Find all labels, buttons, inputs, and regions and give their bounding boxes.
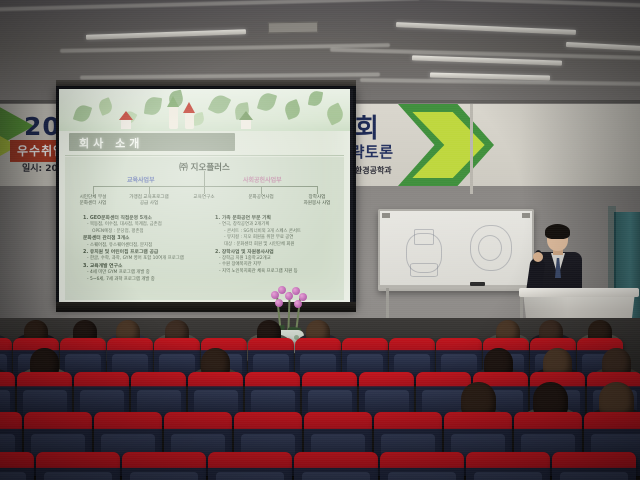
auditorium-seat[interactable] xyxy=(208,452,292,480)
house-illustration-icon xyxy=(239,111,253,129)
slide-text-column-left: 1. GEO문화센터 직접운영 5개소- 목동점, 이수점, 대사점, 목계점,… xyxy=(83,215,205,283)
slide-divider xyxy=(65,155,344,156)
org-connector xyxy=(149,186,150,194)
org-connector xyxy=(204,186,205,194)
tower-illustration-icon xyxy=(185,113,194,129)
slide-text-line: - 지역 노인복지회관 체육 프로그램 지원 등 xyxy=(215,269,341,276)
podium-surface xyxy=(519,288,639,297)
auditorium-seat[interactable] xyxy=(122,452,206,480)
slide-text-line: - 한글, 수학, 과학, GYM 영어 포함 10여개 프로그램 xyxy=(83,256,205,263)
org-category-left: 교육사업부 xyxy=(127,175,155,184)
projected-slide: 회사 소개 ㈜ 지오플러스 교육사업부 사회공헌사업부 시민단체 부설문화센터 … xyxy=(59,89,350,302)
slide-text-column-right: 1. 가족 문화공연 부문 기획- 연극, 창작공연과 2개기획- 콘서트 : … xyxy=(215,215,341,276)
speaker-hand xyxy=(533,252,543,262)
whiteboard-tray xyxy=(378,285,530,289)
org-node: 가맹점 교육프로그램공급 사업 xyxy=(126,195,172,207)
slide-text-line: - 연극, 창작공연과 2개기획 xyxy=(215,222,341,229)
auditorium-seat[interactable] xyxy=(294,452,378,480)
ceiling-vent xyxy=(268,22,318,34)
slide-text-line: 문화센터 관리점 3개소 xyxy=(83,235,205,242)
tower-illustration-icon xyxy=(169,107,178,129)
whiteboard-clip xyxy=(382,213,390,218)
leaf-icon xyxy=(324,102,346,125)
screen-bottom-bar xyxy=(56,302,356,312)
whiteboard-sketch xyxy=(414,229,434,245)
house-illustration-icon xyxy=(119,111,133,129)
banner-support-pole xyxy=(470,104,473,194)
leaf-icon xyxy=(257,91,277,113)
leaf-icon xyxy=(308,90,323,107)
org-connector xyxy=(261,186,262,194)
leaf-icon xyxy=(97,97,115,116)
slide-text-line: - 4세 미만 GYM 프로그램 개발 중 xyxy=(83,270,205,277)
org-connector xyxy=(93,186,317,187)
leaf-icon xyxy=(283,99,303,120)
slide-text-line: - 스퀘어점, 유스퀘어센터점, 분지점 xyxy=(83,243,205,250)
org-node: 시민단체 부설문화센터 사업 xyxy=(70,195,116,207)
org-node: 교육연구소 xyxy=(181,195,227,201)
slide-title: 회사 소개 xyxy=(79,135,143,151)
slide-text-line: - 목동점, 이수점, 대사점, 목계점, 금촌점 xyxy=(83,222,205,229)
leaf-icon xyxy=(208,92,232,117)
speaker-hair xyxy=(545,224,570,239)
orchid-bloom xyxy=(275,299,283,307)
slide-text-line: - 5~6세, 7세 과학 프로그램 개발 중 xyxy=(83,277,205,284)
slide-text-line: 2. 장학사업 및 자원봉사사업 xyxy=(215,249,341,256)
auditorium-seat[interactable] xyxy=(380,452,464,480)
org-node: 장학사업자원봉사 사업 xyxy=(294,195,340,207)
whiteboard xyxy=(378,209,534,291)
slide-text-line: 대상 : 문화센터 회원 및 시민단체 회원 xyxy=(215,242,341,249)
whiteboard-clip xyxy=(522,213,530,218)
org-category-right: 사회공헌사업부 xyxy=(243,175,282,184)
org-node: 문화공연사업 xyxy=(238,195,284,201)
auditorium-seat[interactable] xyxy=(36,452,120,480)
org-connector xyxy=(204,171,205,187)
whiteboard-sketch xyxy=(478,235,502,261)
presentation-scene: 200 우수취업 일시: 2009. 수회 공전략토론 대학교 환경공학과 xyxy=(0,0,640,480)
projection-screen: 회사 소개 ㈜ 지오플러스 교육사업부 사회공헌사업부 시민단체 부설문화센터 … xyxy=(56,86,356,314)
orchid-bloom xyxy=(294,300,302,308)
auditorium-seat[interactable] xyxy=(466,452,550,480)
auditorium-seat[interactable] xyxy=(0,452,34,480)
slide-text-line: OPEN예정 : 분당점, 평촌점 xyxy=(83,229,205,236)
org-connector xyxy=(317,186,318,194)
whiteboard-sketch xyxy=(410,263,438,277)
whiteboard-marker[interactable] xyxy=(470,282,485,286)
slide-header-illustration xyxy=(59,89,350,131)
org-connector xyxy=(93,186,94,194)
leaf-icon xyxy=(144,96,162,116)
slide-body: ㈜ 지오플러스 교육사업부 사회공헌사업부 시민단체 부설문화센터 사업 가맹점… xyxy=(65,157,344,300)
auditorium-seat[interactable] xyxy=(552,452,636,480)
leaf-icon xyxy=(73,103,93,124)
